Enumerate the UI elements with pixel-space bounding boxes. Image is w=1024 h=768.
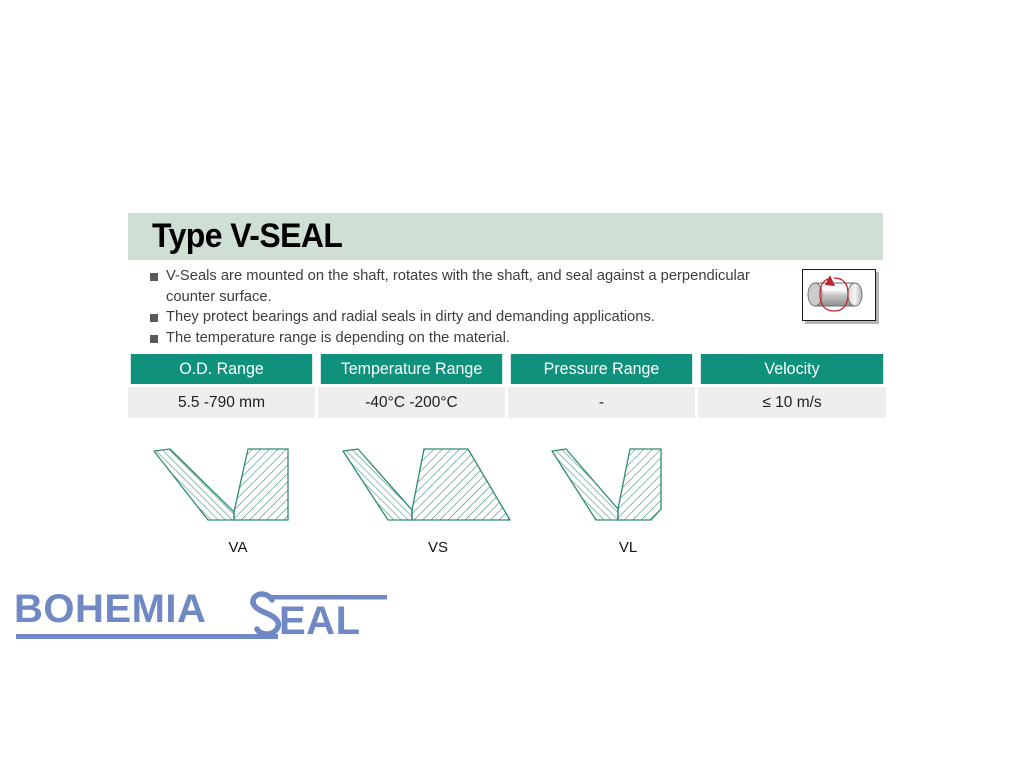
title-banner: Type V-SEAL	[128, 213, 883, 260]
cell-temperature-range: -40°C -200°C	[318, 387, 505, 418]
column-header-velocity: Velocity	[701, 354, 883, 384]
list-item: They protect bearings and radial seals i…	[150, 307, 790, 328]
v-seal-profile-va-drawing	[148, 443, 308, 535]
profile-label-vl: VL	[548, 539, 708, 556]
bullet-square-icon	[150, 273, 158, 281]
logo-text-primary: BOHEMIA	[14, 587, 206, 631]
column-divider	[505, 354, 508, 384]
profile-label-va: VA	[148, 539, 328, 556]
v-seal-profile-vs-drawing	[338, 443, 523, 535]
list-item: V-Seals are mounted on the shaft, rotate…	[150, 266, 790, 307]
page-title: Type V-SEAL	[152, 215, 342, 258]
bullet-text: The temperature range is depending on th…	[166, 328, 771, 349]
column-header-od-range: O.D. Range	[131, 354, 312, 384]
profile-label-vs: VS	[338, 539, 538, 556]
v-seal-profile-vl: VL	[548, 443, 708, 535]
bullet-text: V-Seals are mounted on the shaft, rotate…	[166, 266, 771, 307]
column-divider	[315, 354, 318, 384]
bullet-square-icon	[150, 314, 158, 322]
table-header-row: O.D. Range Temperature Range Pressure Ra…	[128, 354, 883, 384]
table-row: 5.5 -790 mm -40°C -200°C - ≤ 10 m/s	[128, 387, 883, 418]
column-divider	[695, 354, 698, 384]
logo: BOHEMIA EAL	[14, 584, 394, 646]
list-item: The temperature range is depending on th…	[150, 328, 790, 349]
shaft-icon-box	[802, 269, 876, 321]
cell-od-range: 5.5 -790 mm	[128, 387, 315, 418]
v-seal-profile-vs: VS	[338, 443, 538, 535]
logo-text-secondary: EAL	[279, 599, 361, 643]
profile-diagrams: VA VS VL	[128, 443, 888, 563]
description-block: V-Seals are mounted on the shaft, rotate…	[150, 266, 790, 348]
rotating-shaft-icon	[803, 270, 874, 319]
column-header-pressure-range: Pressure Range	[511, 354, 692, 384]
bohemia-seal-logo: BOHEMIA EAL	[14, 584, 389, 646]
bullet-square-icon	[150, 335, 158, 343]
v-seal-profile-vl-drawing	[548, 443, 688, 535]
cell-pressure-range: -	[508, 387, 695, 418]
spec-table: O.D. Range Temperature Range Pressure Ra…	[128, 354, 883, 418]
v-seal-profile-va: VA	[148, 443, 328, 535]
column-header-temperature-range: Temperature Range	[321, 354, 502, 384]
bullet-text: They protect bearings and radial seals i…	[166, 307, 771, 328]
cell-velocity: ≤ 10 m/s	[698, 387, 886, 418]
